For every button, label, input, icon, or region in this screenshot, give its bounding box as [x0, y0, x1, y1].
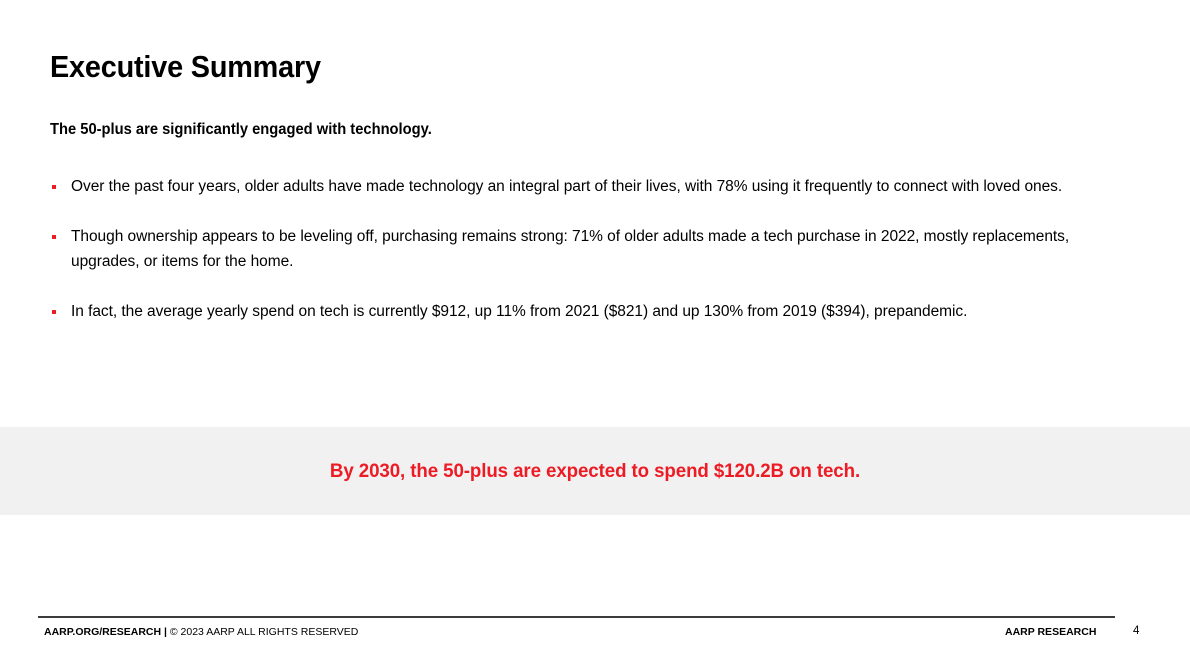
bullet-list: Over the past four years, older adults h…: [50, 174, 1110, 324]
list-item: Though ownership appears to be leveling …: [50, 224, 1110, 274]
list-item: Over the past four years, older adults h…: [50, 174, 1110, 199]
callout-band: By 2030, the 50-plus are expected to spe…: [0, 427, 1190, 515]
list-item-text: Over the past four years, older adults h…: [71, 178, 1062, 195]
slide-subtitle: The 50-plus are significantly engaged wi…: [50, 120, 432, 140]
list-item-text: In fact, the average yearly spend on tec…: [71, 303, 967, 320]
list-item-text: Though ownership appears to be leveling …: [71, 228, 1069, 270]
list-item: In fact, the average yearly spend on tec…: [50, 299, 1110, 324]
footer-page-number: 4: [1133, 624, 1139, 638]
slide: Executive Summary The 50-plus are signif…: [0, 0, 1190, 669]
bullet-dot-icon: [52, 235, 56, 239]
footer-organization: AARP RESEARCH: [1005, 625, 1096, 639]
page-title: Executive Summary: [50, 47, 321, 87]
footer-copyright: © 2023 AARP ALL RIGHTS RESERVED: [167, 626, 358, 638]
footer-divider: [38, 616, 1115, 618]
callout-text: By 2030, the 50-plus are expected to spe…: [24, 427, 1166, 515]
bullet-dot-icon: [52, 185, 56, 189]
bullet-dot-icon: [52, 310, 56, 314]
footer-source: AARP.ORG/RESEARCH | © 2023 AARP ALL RIGH…: [44, 625, 358, 639]
footer-source-label: AARP.ORG/RESEARCH |: [44, 626, 167, 638]
